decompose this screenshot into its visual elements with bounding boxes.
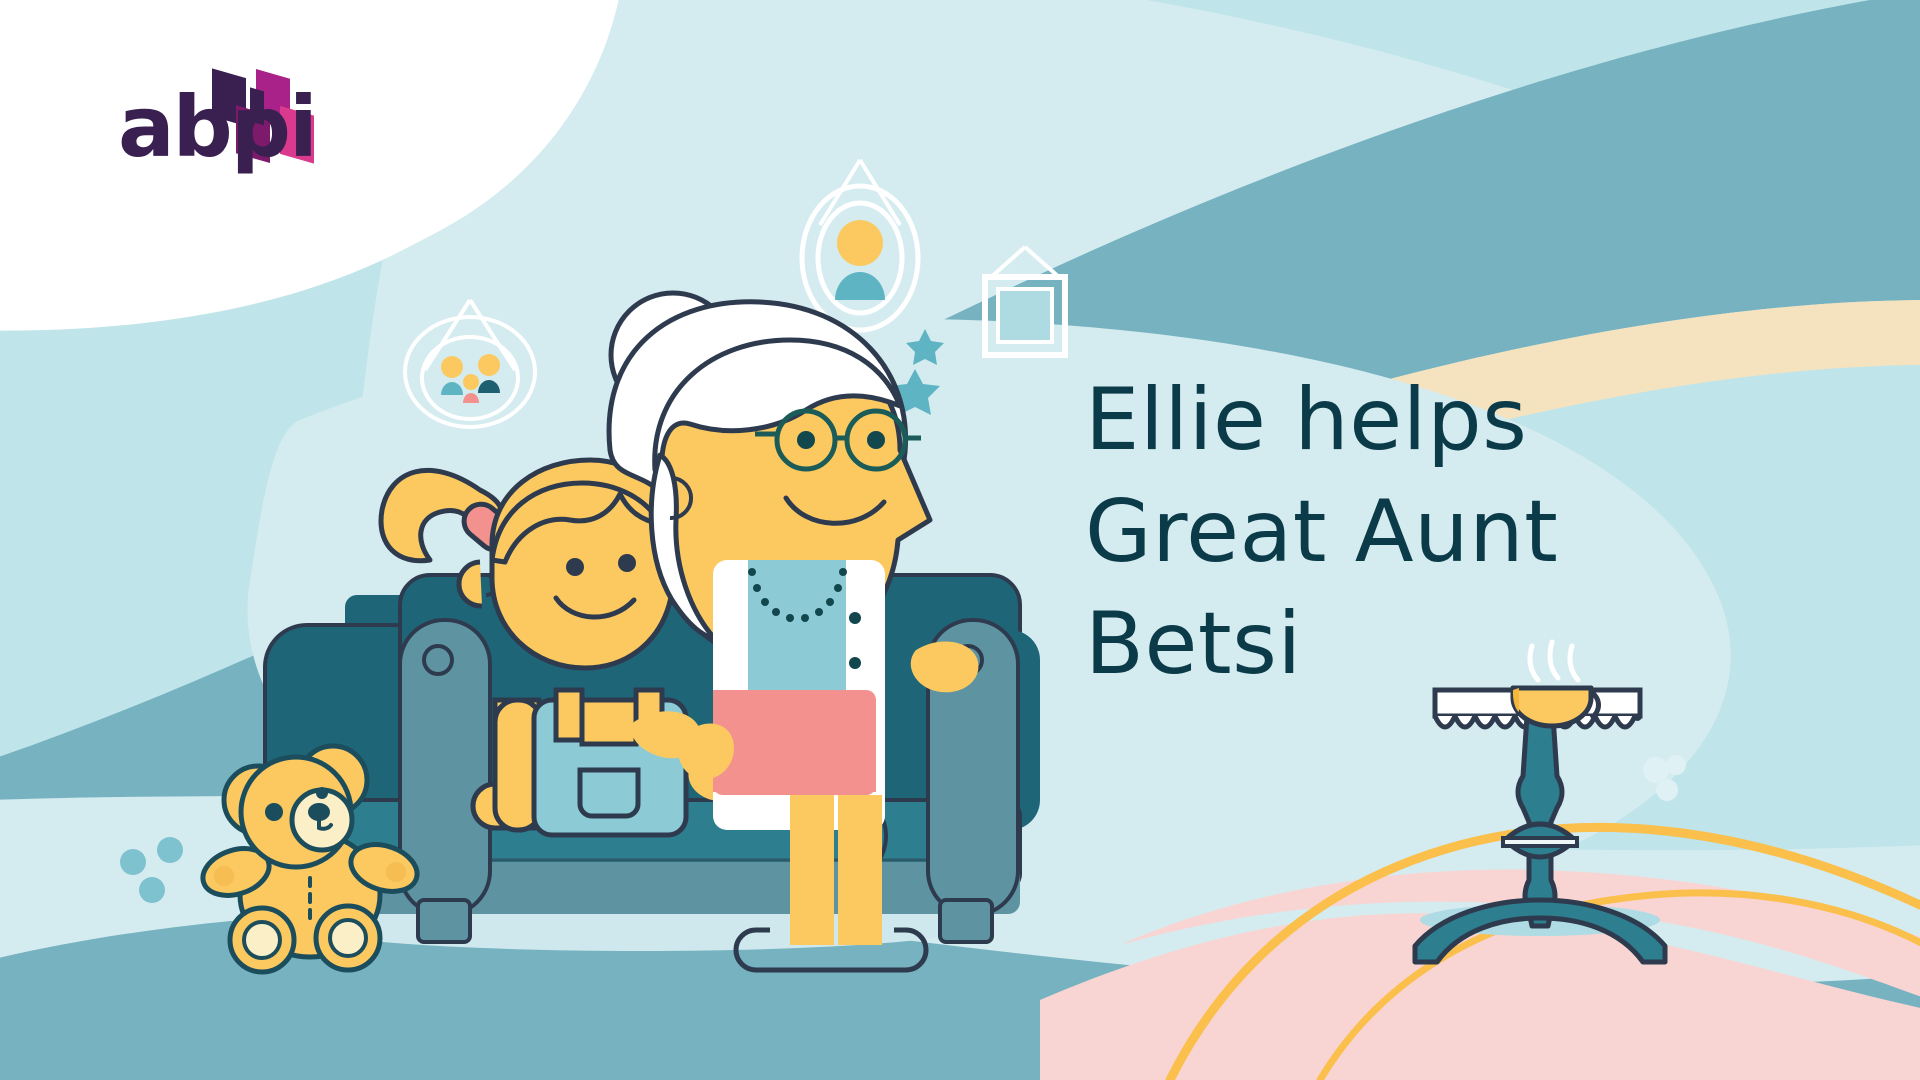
title-card: abpi Ellie helps Great Aunt Betsi <box>0 0 1920 1080</box>
ellie-eye-right <box>618 554 636 572</box>
abpi-wordmark: abpi <box>118 78 316 176</box>
betsi-eye-left <box>797 431 815 449</box>
sofa-arm-left <box>400 620 490 942</box>
abpi-logo[interactable]: abpi <box>78 38 378 188</box>
betsi-eye-right <box>867 431 885 449</box>
betsi-leg-left <box>790 795 834 945</box>
cup-body <box>1513 688 1591 726</box>
abpi-logo-svg: abpi <box>78 38 378 188</box>
betsi-leg-right <box>838 795 882 945</box>
ellie-eye-left <box>566 558 584 576</box>
